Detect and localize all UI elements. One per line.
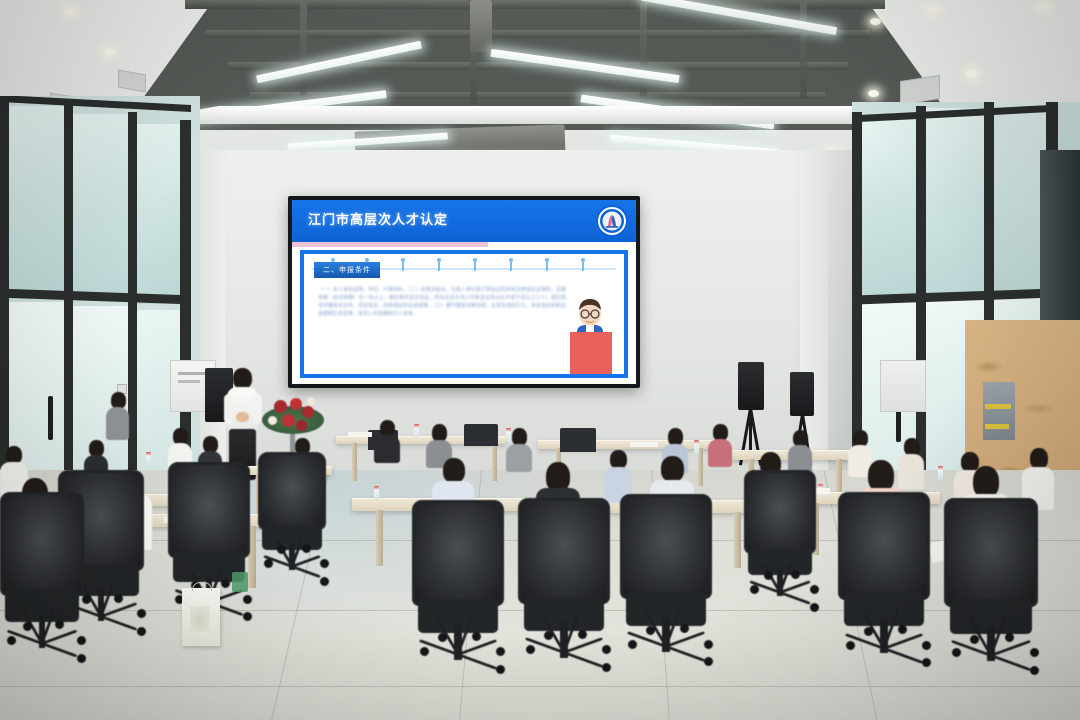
- chair-caster: [420, 647, 429, 656]
- downlight-icon: [868, 90, 879, 97]
- chair-backrest: [838, 492, 930, 600]
- chair-base-spoke: [884, 647, 923, 663]
- slide-tick: [510, 262, 512, 271]
- chair-caster: [628, 640, 637, 649]
- chair-backrest: [620, 494, 712, 599]
- office-chair: [412, 500, 504, 690]
- chair-caster: [898, 625, 907, 634]
- attendee: [706, 424, 734, 466]
- chair-base: [840, 646, 928, 684]
- chair-base-spoke: [564, 651, 603, 667]
- chair-caster: [496, 647, 505, 656]
- chair-caster: [922, 641, 931, 650]
- chair-base-spoke: [42, 642, 78, 657]
- slide-header-band: 江门市高层次人才认定: [292, 200, 636, 242]
- water-bottle: [938, 466, 943, 480]
- ceiling-beam-cross: [300, 0, 307, 108]
- chair-caster: [680, 624, 689, 633]
- downlight-icon: [966, 70, 977, 77]
- rose-white: [268, 416, 277, 425]
- slide-body-text: （一）本人身份证明、学历、户籍资料。（二）在我市就业，与用人单位签订劳动合同并依…: [318, 286, 566, 318]
- chair-backrest: [258, 452, 326, 530]
- osb-poster: [983, 382, 1015, 440]
- chair-caster: [791, 570, 800, 579]
- presenter-hands: [236, 412, 249, 422]
- rose: [274, 400, 287, 413]
- chair-caster: [55, 620, 64, 629]
- office-chair: [744, 470, 816, 620]
- chair-base: [622, 644, 710, 682]
- laptop: [464, 424, 498, 446]
- door-handle[interactable]: [48, 396, 53, 440]
- bag-print: [190, 606, 210, 632]
- water-bottle: [414, 424, 419, 438]
- chair-caster: [1030, 648, 1039, 657]
- rose: [290, 398, 302, 410]
- presenter-head: [233, 368, 252, 389]
- chair-caster: [243, 595, 252, 604]
- bag-handle: [192, 582, 212, 591]
- slide-tick: [474, 262, 476, 271]
- chair-base: [2, 641, 83, 678]
- chair-base: [259, 564, 324, 592]
- rose: [296, 420, 307, 431]
- ceiling-beam: [185, 0, 885, 9]
- chair-caster: [1030, 666, 1039, 675]
- desk-leg: [376, 510, 383, 566]
- downlight-icon: [870, 18, 881, 25]
- desk-leg: [352, 443, 357, 481]
- rose: [282, 414, 295, 427]
- slide-tick-dot: [509, 258, 513, 262]
- chair-base-spoke: [991, 654, 1031, 671]
- slide-tick: [546, 262, 548, 271]
- attendee-head: [443, 458, 465, 483]
- chair-caster: [810, 603, 819, 612]
- chair-caster: [578, 630, 587, 639]
- downlight-icon: [928, 6, 939, 13]
- slide-section-tag: 二、申报条件: [314, 262, 380, 278]
- chair-caster: [438, 633, 447, 642]
- slide-title: 江门市高层次人才认定: [308, 209, 448, 228]
- rose: [302, 406, 314, 418]
- conference-room-photo: 江门市高层次人才认定: [0, 0, 1080, 720]
- attendee-body: [106, 407, 129, 440]
- illustration-podium: [570, 332, 612, 374]
- slide-tick: [438, 262, 440, 271]
- slide-tick-dot: [581, 258, 585, 262]
- slide-tick-dot: [545, 258, 549, 262]
- office-chair: [838, 492, 930, 684]
- slide-tick-dot: [473, 258, 477, 262]
- water-bottle: [374, 486, 379, 500]
- chair-caster: [77, 636, 86, 645]
- chair-caster: [602, 663, 611, 672]
- office-chair: [518, 498, 610, 688]
- talent-emblem-icon: [596, 205, 628, 237]
- chair-backrest: [744, 470, 816, 554]
- chair-backrest: [412, 500, 504, 606]
- slide-content-box: 二、申报条件 （一）本人身份证明、学历、户籍资料。（二）在我市就业，与用人单位签…: [300, 250, 628, 378]
- osb-poster-stripe: [985, 424, 1009, 429]
- floor-item: [232, 572, 248, 592]
- chair-caster: [137, 609, 146, 618]
- attendee: [372, 420, 402, 460]
- attendee-body: [374, 435, 400, 463]
- attendee-body: [506, 444, 532, 472]
- chair-caster: [526, 645, 535, 654]
- office-chair: [620, 494, 712, 682]
- chair-caster: [704, 640, 713, 649]
- shopping-bag: [182, 588, 220, 646]
- chair-backrest: [518, 498, 610, 604]
- chair-caster: [810, 585, 819, 594]
- chair-base: [520, 650, 608, 688]
- water-bottle: [146, 452, 151, 466]
- chair-caster: [952, 648, 961, 657]
- chair-base-spoke: [101, 615, 138, 631]
- desk-leg: [698, 448, 703, 486]
- chair-caster: [1005, 633, 1014, 642]
- chair-caster: [114, 594, 123, 603]
- downlight-icon: [1038, 4, 1049, 11]
- chair-caster: [7, 636, 16, 645]
- chair-caster: [472, 632, 481, 641]
- attendee: [104, 392, 130, 440]
- chair-base-spoke: [780, 591, 811, 604]
- pa-speaker: [790, 372, 814, 416]
- office-chair: [944, 498, 1038, 692]
- chair-base: [745, 590, 814, 620]
- office-chair: [258, 452, 326, 592]
- laptop: [560, 428, 596, 452]
- chair-caster: [646, 626, 655, 635]
- wall-sign-text-line: [178, 372, 206, 375]
- chair-caster: [302, 544, 311, 553]
- papers: [348, 432, 372, 437]
- chair-base-spoke: [458, 653, 497, 669]
- chair-caster: [704, 657, 713, 666]
- chair-base-spoke: [666, 646, 705, 662]
- office-chair: [0, 492, 84, 678]
- chair-caster: [23, 622, 32, 631]
- chair-caster: [750, 585, 759, 594]
- chair-caster: [137, 627, 146, 636]
- attendee-body: [708, 439, 732, 467]
- chair-backrest: [944, 498, 1038, 607]
- chair-caster: [544, 631, 553, 640]
- wall-notice-sign: [880, 360, 926, 412]
- chair-backrest: [168, 462, 250, 558]
- slide-tick: [402, 262, 404, 271]
- chair-caster: [77, 654, 86, 663]
- slide-tick-dot: [401, 258, 405, 262]
- chair-caster: [846, 641, 855, 650]
- led-video-wall[interactable]: 江门市高层次人才认定: [288, 196, 640, 388]
- papers: [630, 442, 658, 447]
- slide-tick: [582, 262, 584, 271]
- chair-base: [414, 652, 502, 690]
- chair-base-spoke: [292, 565, 321, 578]
- chair-caster: [602, 645, 611, 654]
- chair-caster: [496, 665, 505, 674]
- osb-poster-stripe: [985, 404, 1011, 409]
- downlight-icon: [64, 8, 75, 15]
- slide-pink-accent-bar: [292, 242, 488, 247]
- water-bottle: [694, 440, 699, 454]
- desk-leg: [492, 443, 497, 481]
- pa-speaker: [738, 362, 764, 410]
- hvac-duct: [470, 0, 492, 52]
- chair-backrest: [0, 492, 84, 596]
- ceiling-beam-cross: [640, 0, 647, 102]
- chair-caster: [264, 559, 273, 568]
- presenter-arm: [224, 394, 233, 424]
- ceiling-beam-cross: [800, 0, 807, 98]
- wall-sign-text-line: [178, 380, 200, 383]
- slide-tick-dot: [437, 258, 441, 262]
- rose-white: [307, 397, 315, 405]
- chair-caster: [864, 627, 873, 636]
- attendee-head: [1030, 448, 1048, 469]
- chair-base: [946, 653, 1036, 692]
- attendee: [504, 428, 534, 470]
- downlight-icon: [104, 48, 115, 55]
- presenter-arm: [253, 394, 262, 424]
- slide-surface: 江门市高层次人才认定: [292, 200, 636, 384]
- desk-leg: [734, 512, 741, 568]
- chair-caster: [922, 658, 931, 667]
- chair-caster: [970, 635, 979, 644]
- chair-caster: [221, 579, 230, 588]
- attendee-head: [661, 456, 684, 482]
